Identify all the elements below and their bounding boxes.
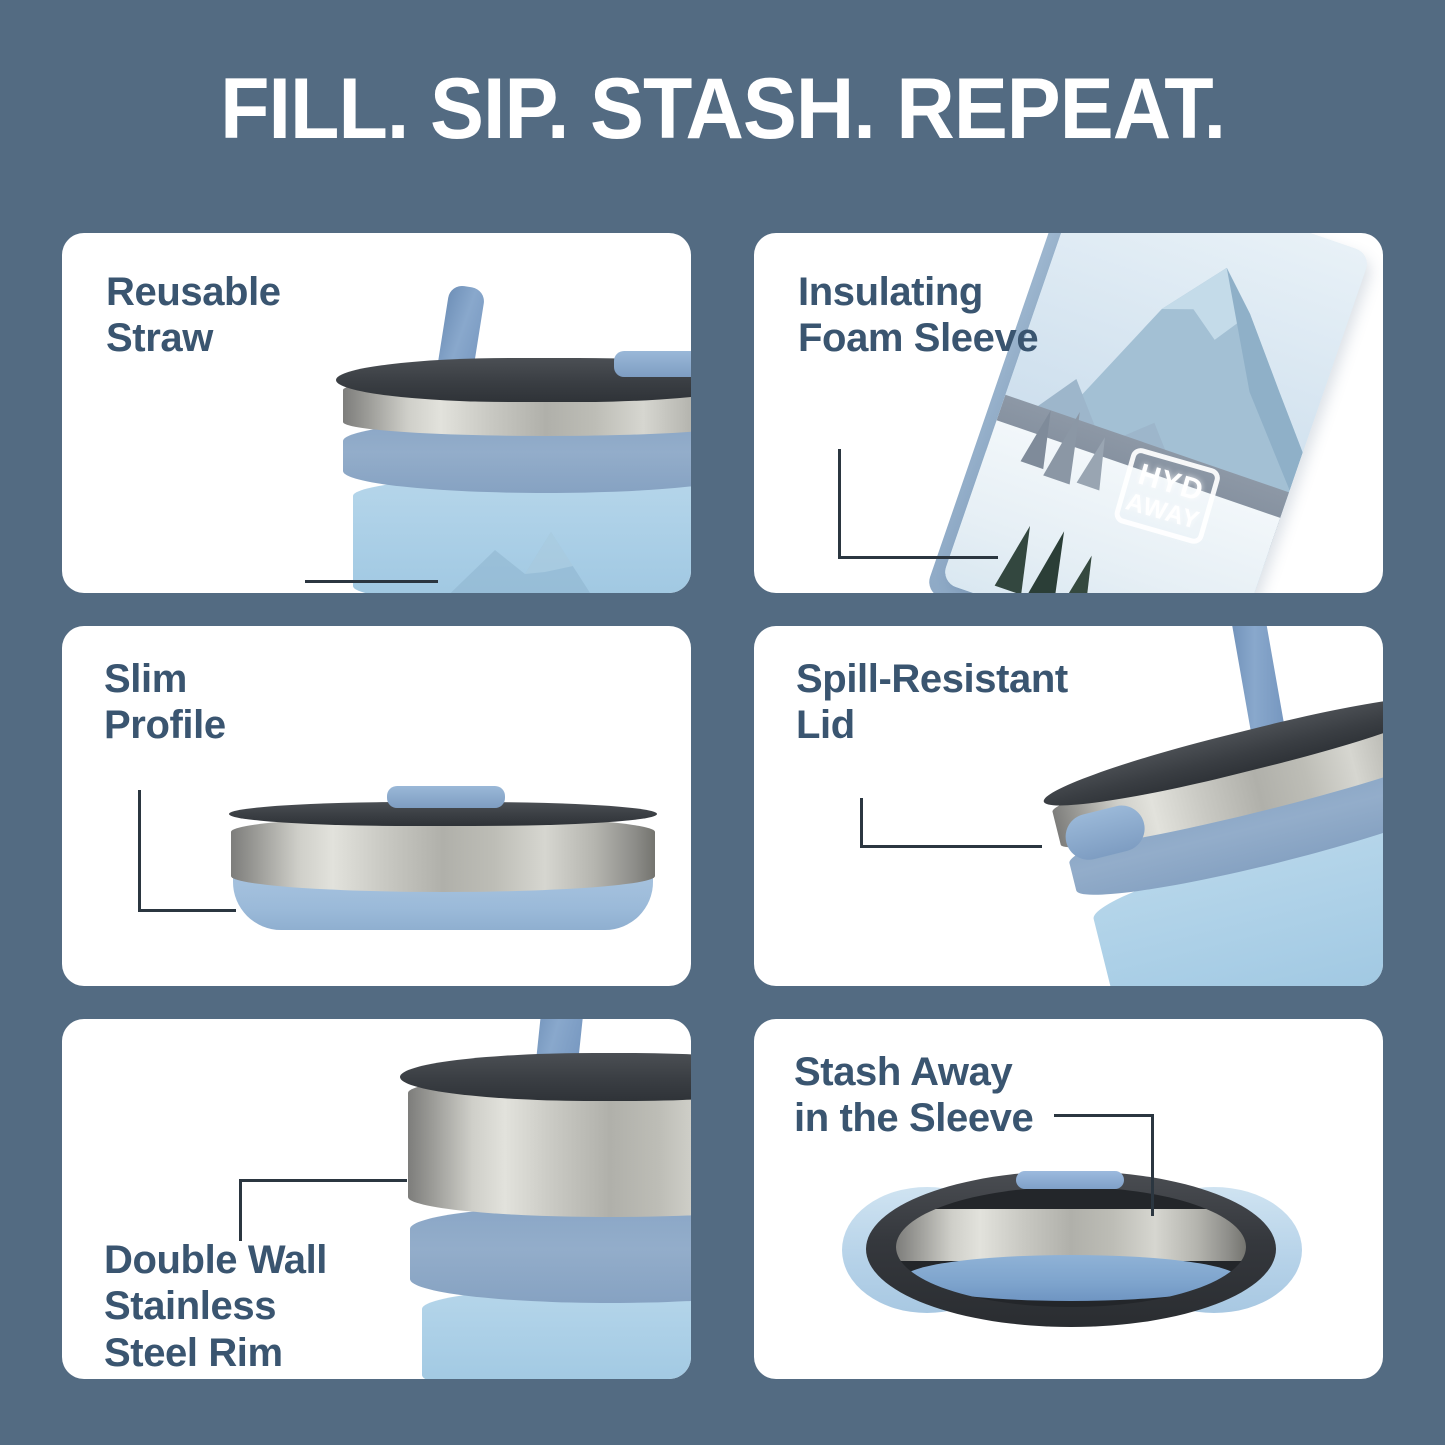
- feature-label: Stash Away in the Sleeve: [794, 1049, 1033, 1142]
- callout-line-horizontal: [838, 556, 998, 559]
- page-title: FILL. SIP. STASH. REPEAT.: [220, 54, 1225, 152]
- header-banner: FILL. SIP. STASH. REPEAT.: [0, 0, 1445, 205]
- feature-card-double-wall-stainless-steel-rim[interactable]: Double Wall Stainless Steel Rim: [62, 1019, 691, 1379]
- collapsed-tumbler-graphic: [896, 1187, 1246, 1307]
- feature-card-insulating-foam-sleeve[interactable]: Insulating Foam Sleeve HY: [754, 233, 1383, 593]
- lid-tab-graphic: [614, 351, 691, 377]
- lid-tab-graphic: [1016, 1171, 1124, 1189]
- feature-label: Insulating Foam Sleeve: [798, 269, 1038, 362]
- callout-line: [305, 580, 438, 583]
- callout-line-horizontal: [239, 1179, 407, 1182]
- feature-label: Double Wall Stainless Steel Rim: [104, 1237, 327, 1376]
- tumbler-body-graphic: [353, 476, 691, 593]
- mountain-graphic: [433, 524, 663, 593]
- feature-card-spill-resistant-lid[interactable]: Spill-Resistant Lid: [754, 626, 1383, 986]
- steel-rim-graphic: [896, 1209, 1246, 1261]
- callout-line-vertical: [838, 449, 841, 559]
- callout-line-vertical: [138, 790, 141, 912]
- callout-line-vertical: [239, 1179, 242, 1241]
- tumbler-base-graphic: [904, 1255, 1238, 1301]
- feature-label: Spill-Resistant Lid: [796, 656, 1068, 749]
- callout-line-horizontal: [138, 909, 236, 912]
- feature-card-slim-profile[interactable]: Slim Profile: [62, 626, 691, 986]
- callout-line-horizontal: [1054, 1114, 1154, 1117]
- lid-tab-graphic: [387, 786, 505, 808]
- feature-card-stash-away-in-the-sleeve[interactable]: Stash Away in the Sleeve: [754, 1019, 1383, 1379]
- foam-sleeve-band-graphic: [410, 1205, 691, 1303]
- callout-line-horizontal: [860, 845, 1042, 848]
- callout-line-vertical: [1151, 1114, 1154, 1216]
- feature-card-grid: Reusable Straw Insulating Foam Sleeve: [62, 233, 1383, 1385]
- callout-line-vertical: [860, 798, 863, 848]
- feature-label: Reusable Straw: [106, 269, 281, 362]
- feature-card-reusable-straw[interactable]: Reusable Straw: [62, 233, 691, 593]
- feature-label: Slim Profile: [104, 656, 226, 749]
- steel-rim-graphic: [231, 816, 655, 892]
